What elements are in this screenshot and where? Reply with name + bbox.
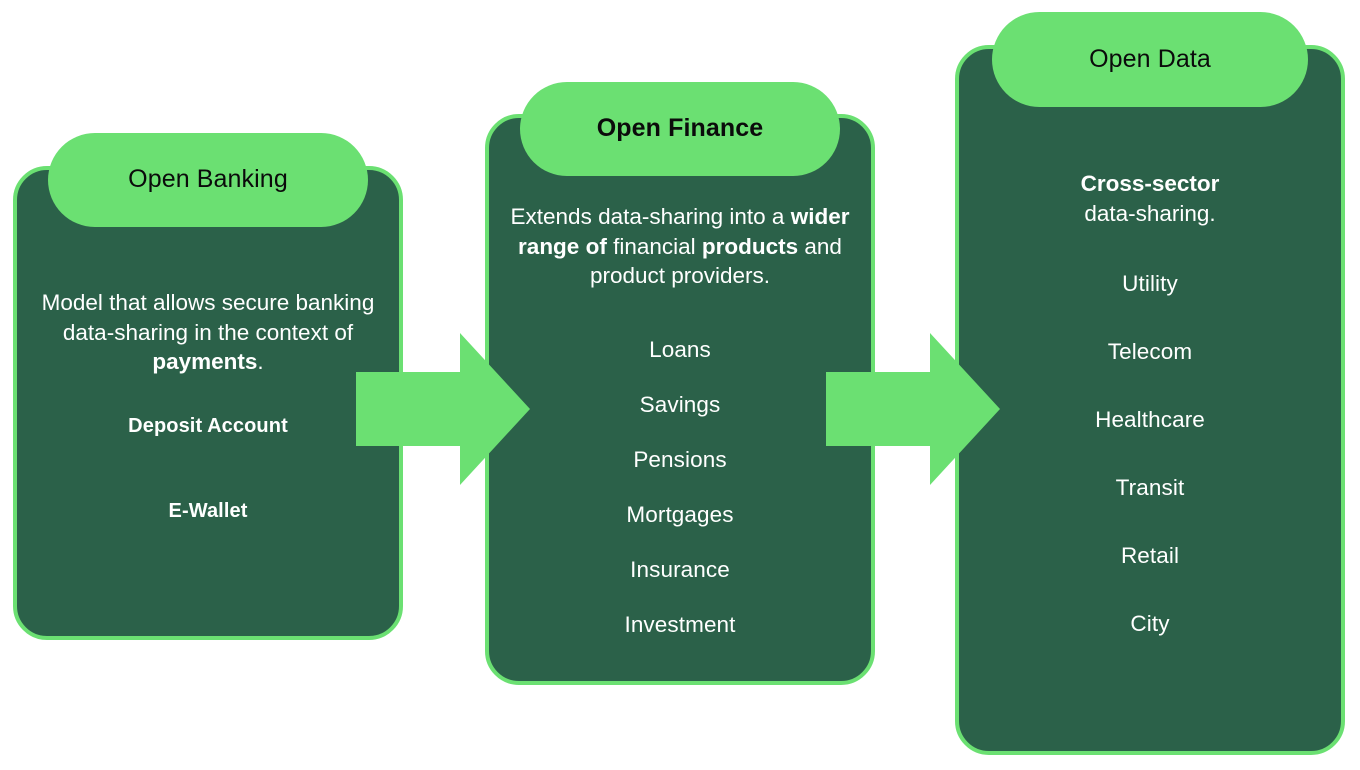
desc-text-4: products bbox=[702, 234, 798, 259]
desc-text-1: Cross-sector bbox=[1081, 171, 1220, 196]
list-item: Investment bbox=[489, 612, 871, 638]
desc-text-1: Extends data-sharing into a bbox=[511, 204, 791, 229]
desc-text-3: financial bbox=[607, 234, 702, 259]
list-item: Pensions bbox=[489, 447, 871, 473]
list-item: Savings bbox=[489, 392, 871, 418]
stage-card-open-banking: Model that allows secure banking data-sh… bbox=[13, 166, 403, 640]
open-finance-item-list: Loans Savings Pensions Mortgages Insuran… bbox=[489, 337, 871, 638]
stage-title-label: Open Banking bbox=[128, 166, 288, 194]
diagram-canvas: Model that allows secure banking data-sh… bbox=[0, 0, 1360, 770]
desc-text-2: data-sharing. bbox=[1084, 201, 1215, 226]
list-item: Mortgages bbox=[489, 502, 871, 528]
open-finance-description-block: Extends data-sharing into a wider range … bbox=[489, 202, 871, 291]
list-item: Retail bbox=[959, 543, 1341, 569]
open-banking-description-block: Model that allows secure banking data-sh… bbox=[17, 288, 399, 377]
stage-title-pill-open-finance: Open Finance bbox=[520, 82, 840, 176]
list-item: Loans bbox=[489, 337, 871, 363]
stage-card-open-data: Cross-sector data-sharing. Utility Telec… bbox=[955, 45, 1345, 755]
list-item: City bbox=[959, 611, 1341, 637]
arrow-right-icon bbox=[356, 330, 532, 488]
stage-title-label: Open Finance bbox=[597, 115, 764, 143]
open-banking-description: Model that allows secure banking data-sh… bbox=[17, 288, 399, 377]
list-item: Insurance bbox=[489, 557, 871, 583]
list-item: Utility bbox=[959, 271, 1341, 297]
stage-title-pill-open-banking: Open Banking bbox=[48, 133, 368, 227]
open-banking-item-list: Deposit Account E-Wallet bbox=[17, 415, 399, 523]
list-item: Deposit Account bbox=[17, 415, 399, 438]
open-data-description-block: Cross-sector data-sharing. bbox=[959, 169, 1341, 228]
desc-text-1: Model that allows secure banking data-sh… bbox=[42, 290, 375, 345]
list-item: Healthcare bbox=[959, 407, 1341, 433]
open-data-description: Cross-sector data-sharing. bbox=[959, 169, 1341, 228]
desc-text-2: payments bbox=[152, 349, 257, 374]
arrow-right-icon bbox=[826, 330, 1002, 488]
stage-title-label: Open Data bbox=[1089, 46, 1211, 74]
open-data-item-list: Utility Telecom Healthcare Transit Retai… bbox=[959, 271, 1341, 637]
list-item: Telecom bbox=[959, 339, 1341, 365]
stage-card-open-finance: Extends data-sharing into a wider range … bbox=[485, 114, 875, 685]
open-finance-description: Extends data-sharing into a wider range … bbox=[489, 202, 871, 291]
list-item: E-Wallet bbox=[17, 500, 399, 523]
list-item: Transit bbox=[959, 475, 1341, 501]
stage-title-pill-open-data: Open Data bbox=[992, 12, 1308, 107]
desc-text-3: . bbox=[257, 349, 263, 374]
